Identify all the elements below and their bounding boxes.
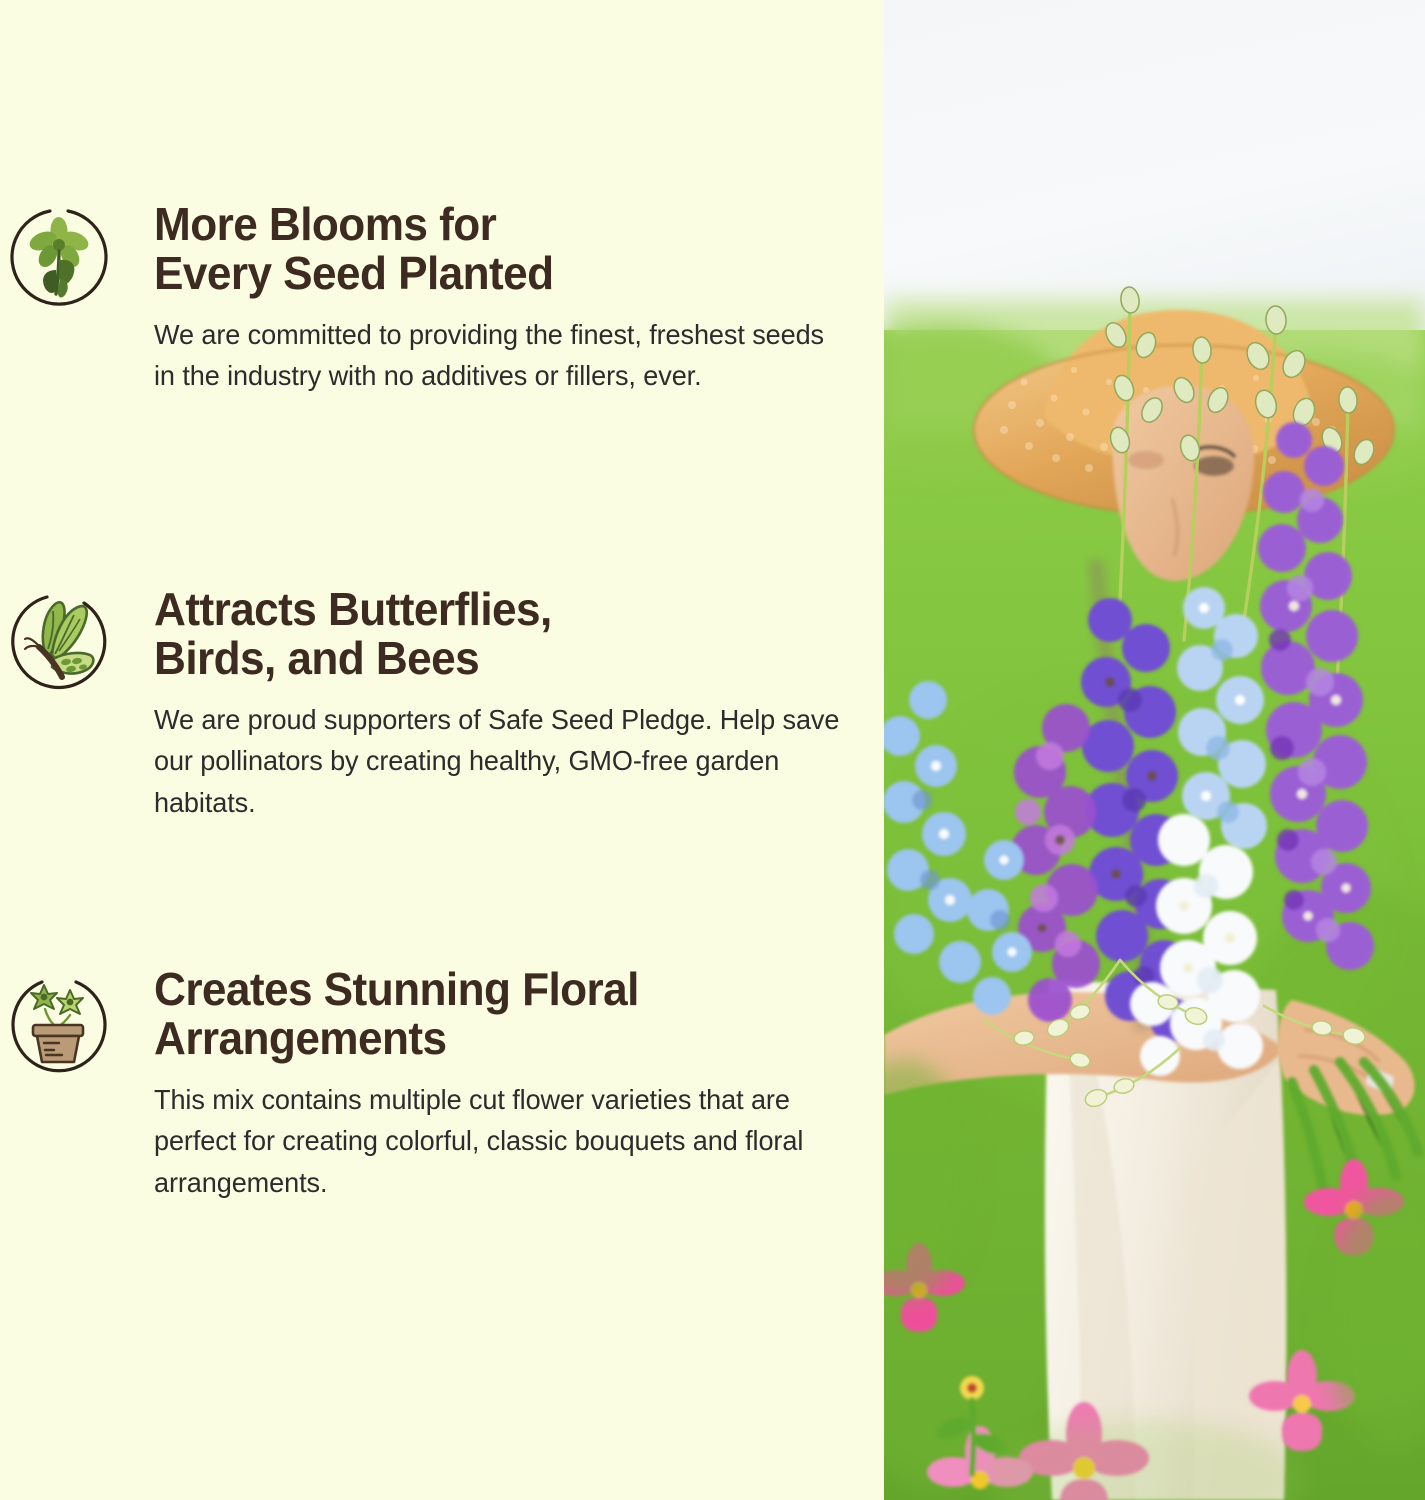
feature-title: Creates Stunning Floral Arrangements — [154, 965, 826, 1063]
feature-title: More Blooms for Every Seed Planted — [154, 200, 826, 298]
butterfly-in-circle-icon — [4, 585, 124, 705]
feature-item-floral-arrangements: Creates Stunning Floral Arrangements Thi… — [0, 965, 884, 1204]
feature-text-block: More Blooms for Every Seed Planted We ar… — [124, 200, 884, 397]
feature-item-more-blooms: More Blooms for Every Seed Planted We ar… — [0, 200, 884, 397]
features-column: More Blooms for Every Seed Planted We ar… — [0, 0, 884, 1500]
feature-panel-page: More Blooms for Every Seed Planted We ar… — [0, 0, 1425, 1500]
feature-body: We are proud supporters of Safe Seed Ple… — [154, 699, 844, 824]
woman-with-delphinium-bouquet-photo — [884, 0, 1425, 1500]
feature-title: Attracts Butterflies, Birds, and Bees — [154, 585, 826, 683]
feature-body: This mix contains multiple cut flower va… — [154, 1079, 844, 1204]
feature-text-block: Creates Stunning Floral Arrangements Thi… — [124, 965, 884, 1204]
feature-body: We are committed to providing the finest… — [154, 314, 844, 398]
feature-text-block: Attracts Butterflies, Birds, and Bees We… — [124, 585, 884, 824]
flower-in-circle-icon — [4, 200, 124, 320]
potted-plant-in-circle-icon — [4, 965, 124, 1085]
feature-item-attracts-pollinators: Attracts Butterflies, Birds, and Bees We… — [0, 585, 884, 824]
